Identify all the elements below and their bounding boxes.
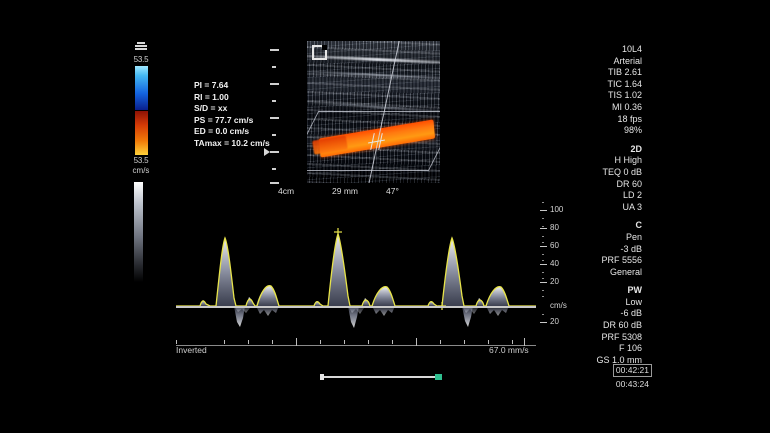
param-probe: 10L4	[570, 44, 642, 56]
colorbar-units: cm/s	[128, 166, 154, 175]
param-header-color: C	[570, 220, 642, 232]
param-tis: TIS 1.02	[570, 90, 642, 102]
param-pw-dr: DR 60 dB	[570, 320, 642, 332]
probe-orientation-icon	[312, 45, 327, 60]
param-c-general: General	[570, 267, 642, 279]
measurement-ed: ED = 0.0 cm/s	[194, 126, 270, 138]
timeline-position-marker[interactable]	[435, 374, 442, 380]
vscale-label-60: 60	[550, 242, 559, 250]
param-pw-prf: PRF 5308	[570, 332, 642, 344]
grayscale-bar	[134, 182, 143, 282]
param-c-pen: Pen	[570, 232, 642, 244]
angle-label: 47°	[386, 186, 399, 196]
param-pw-low: Low	[570, 297, 642, 309]
measurement-tamax: TAmax = 10.2 cm/s	[194, 138, 270, 150]
vscale-label-40: 40	[550, 260, 559, 268]
param-header-2d: 2D	[570, 144, 642, 156]
param-2d-ua: UA 3	[570, 202, 642, 214]
colorbar-top-value: 53.5	[128, 55, 154, 65]
param-c-prf: PRF 5556	[570, 255, 642, 267]
colorbar-blue-gradient	[135, 66, 148, 110]
inverted-label: Inverted	[176, 345, 207, 355]
depth-ruler	[268, 44, 282, 186]
peak-velocity-marker[interactable]	[334, 228, 342, 236]
vscale-label-20: 20	[550, 278, 559, 286]
param-tib: TIB 2.61	[570, 67, 642, 79]
gate-depth-label: 29 mm	[332, 186, 358, 196]
bmode-image[interactable]	[307, 41, 440, 183]
param-c-gain: -3 dB	[570, 244, 642, 256]
param-pw-gain: -6 dB	[570, 308, 642, 320]
timestamp-current[interactable]: 00:42:21	[613, 364, 652, 377]
measurement-panel: PI = 7.64 RI = 1.00 S/D = xx PS = 77.7 c…	[194, 80, 270, 150]
doppler-spectrum	[176, 200, 536, 332]
cardiac-cycle	[200, 238, 279, 327]
color-map-icon	[134, 42, 148, 53]
ultrasound-screen: 53.5 53.5 cm/s PI = 7.64 RI = 1.00 S/D =…	[0, 0, 770, 433]
depth-label: 4cm	[278, 186, 294, 196]
measurement-pi: PI = 7.64	[194, 80, 270, 92]
vscale-label-80: 80	[550, 224, 559, 232]
timestamp-group: 00:42:21 00:43:24	[613, 364, 652, 390]
param-preset: Arterial	[570, 56, 642, 68]
param-2d-dr: DR 60	[570, 179, 642, 191]
cardiac-cycle	[314, 234, 395, 328]
measurement-sd: S/D = xx	[194, 103, 270, 115]
measurement-ps: PS = 77.7 cm/s	[194, 115, 270, 127]
timestamp-total: 00:43:24	[613, 379, 652, 390]
param-fps: 18 fps	[570, 114, 642, 126]
param-2d-h: H High	[570, 155, 642, 167]
vscale-units: cm/s	[550, 302, 567, 310]
time-ruler	[176, 338, 536, 346]
zero-baseline	[176, 306, 536, 308]
spectral-doppler-display[interactable]	[176, 200, 536, 332]
sample-volume-gate[interactable]	[368, 133, 385, 150]
cardiac-cycle	[428, 238, 509, 327]
param-mi: MI 0.36	[570, 102, 642, 114]
param-tic: TIC 1.64	[570, 79, 642, 91]
color-doppler-scale: 53.5 53.5 cm/s	[128, 42, 154, 175]
parameter-panel: 10L4 Arterial TIB 2.61 TIC 1.64 TIS 1.02…	[570, 44, 642, 366]
param-header-pw: PW	[570, 285, 642, 297]
param-2d-teq: TEQ 0 dB	[570, 167, 642, 179]
measurement-ri: RI = 1.00	[194, 92, 270, 104]
sweep-speed-label: 67.0 mm/s	[489, 345, 529, 355]
clip-timeline-scrollbar[interactable]	[320, 374, 442, 380]
colorbar-bottom-value: 53.5	[128, 156, 154, 166]
param-2d-ld: LD 2	[570, 190, 642, 202]
param-pw-f: F 106	[570, 343, 642, 355]
vscale-label-100: 100	[550, 206, 563, 214]
timeline-start-handle[interactable]	[320, 374, 324, 380]
timeline-track[interactable]	[320, 376, 442, 378]
vscale-label-neg20: 20	[550, 318, 559, 326]
param-percent: 98%	[570, 125, 642, 137]
focus-marker-icon	[264, 148, 270, 156]
colorbar-red-gradient	[135, 111, 148, 155]
